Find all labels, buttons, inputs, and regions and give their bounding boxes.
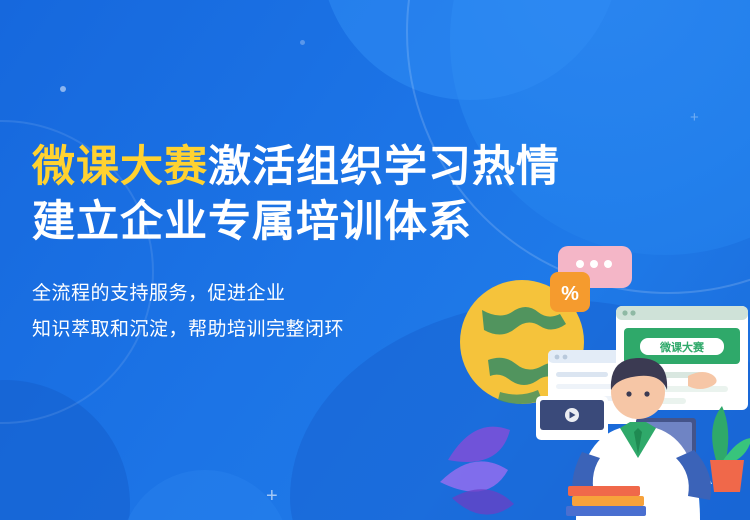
headline-line-2: 建立企业专属培训体系: [32, 195, 502, 250]
headline-highlight: 微课大赛: [32, 143, 208, 191]
background-dot-3: [300, 40, 305, 45]
headline-line-1-rest: 激活组织学习热情: [208, 143, 560, 191]
headline-block: 微课大赛激活组织学习热情 建立企业专属培训体系 全流程的支持服务，促进企业 知识…: [32, 140, 502, 348]
course-card-label: 微课大赛: [659, 340, 705, 354]
books-icon: [566, 486, 646, 516]
video-card-icon: [536, 396, 608, 440]
leaf-decor-icon: [440, 427, 514, 515]
plus-icon: +: [266, 486, 278, 506]
subtext-block: 全流程的支持服务，促进企业 知识萃取和沉淀，帮助培训完整闭环: [32, 276, 502, 348]
percent-symbol: %: [561, 283, 579, 305]
promo-banner: + + 微课大赛激活组织学习热情 建立企业专属培训体系 全流程的支持服务，促进企…: [0, 0, 750, 520]
plus-icon-small: +: [690, 110, 699, 125]
headline-line-1: 微课大赛激活组织学习热情: [32, 140, 502, 195]
plant-icon: [710, 406, 750, 492]
subtext-line-2: 知识萃取和沉淀，帮助培训完整闭环: [32, 312, 502, 348]
background-dot-1: [60, 86, 66, 92]
subtext-line-1: 全流程的支持服务，促进企业: [32, 276, 502, 312]
